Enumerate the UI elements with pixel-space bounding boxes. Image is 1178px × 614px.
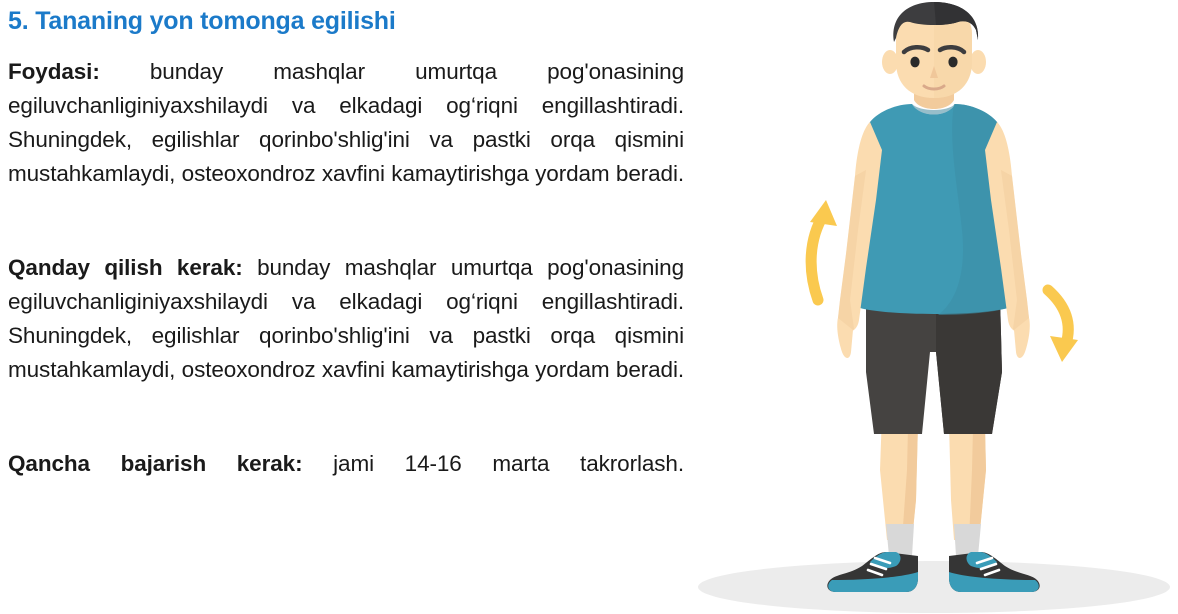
right-sock: [954, 524, 981, 556]
right-eye: [948, 57, 957, 68]
paragraph-howto: Qanday qilish kerak: bunday mashqlar umu…: [8, 251, 684, 421]
man-figure: [827, 2, 1039, 592]
paragraph-benefit-body: bunday mashqlar umurtqa pog'onasining eg…: [8, 59, 684, 186]
left-ear: [882, 50, 898, 74]
paragraph-benefit-lead: Foydasi:: [8, 59, 100, 84]
left-eye: [910, 57, 919, 68]
page-title: 5. Tananing yon tomonga egilishi: [8, 6, 684, 37]
left-arrow-head: [810, 200, 837, 226]
shirt: [858, 104, 1010, 315]
paragraph-reps: Qancha bajarish kerak: jami 14-16 marta …: [8, 447, 684, 515]
exercise-card: 5. Tananing yon tomonga egilishi Foydasi…: [0, 0, 1178, 614]
head: [882, 2, 986, 98]
ground-shadow-ellipse: [698, 561, 1170, 613]
right-arrow-shaft: [1048, 290, 1068, 344]
left-sock: [886, 524, 914, 556]
exercise-illustration: [690, 0, 1178, 614]
man-figure-svg: [690, 0, 1178, 614]
shorts-shade: [936, 296, 1002, 434]
paragraph-howto-lead: Qanday qilish kerak:: [8, 255, 243, 280]
right-arrow-head: [1050, 336, 1078, 362]
left-arrow-up-icon: [810, 200, 837, 300]
right-ear: [970, 50, 986, 74]
right-arrow-down-icon: [1048, 290, 1078, 362]
paragraph-benefit: Foydasi: bunday mashqlar umurtqa pog'ona…: [8, 55, 684, 225]
text-column: 5. Tananing yon tomonga egilishi Foydasi…: [8, 6, 684, 515]
left-arrow-shaft: [811, 214, 824, 300]
paragraph-reps-body: jami 14-16 marta takrorlash.: [302, 451, 684, 476]
shorts: [866, 296, 1002, 434]
paragraph-reps-lead: Qancha bajarish kerak:: [8, 451, 302, 476]
socks: [886, 524, 981, 556]
